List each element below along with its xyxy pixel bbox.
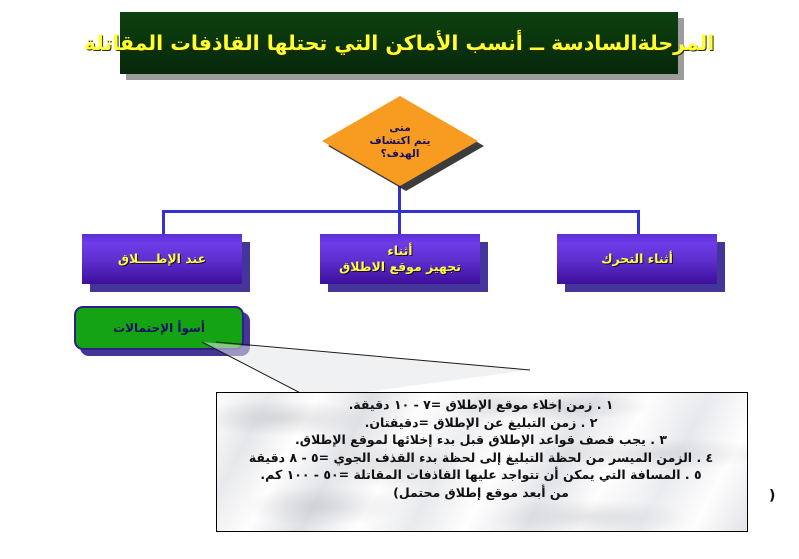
decision-diamond-label: متى يتم اكتشاف الهدف؟	[322, 96, 478, 186]
connector-drop-middle	[398, 210, 401, 234]
process-box-at-launch[interactable]: عند الإطــــلاق	[82, 234, 242, 284]
process-box-during-movement[interactable]: أثناء التحرك	[557, 234, 717, 284]
process-box-label: عند الإطــــلاق	[82, 234, 242, 284]
process-box-label: أثناء التحرك	[557, 234, 717, 284]
list-item: ١ . زمن إخلاء موقع الإطلاق =٧ - ١٠ دقيقة…	[221, 396, 741, 414]
process-box-line-1: عند الإطــــلاق	[118, 251, 206, 267]
list-item: ٥ . المسافة التي يمكن أن تتواجد عليها ال…	[221, 466, 741, 484]
connector-drop-left	[162, 210, 165, 234]
process-box-launch-site-prep[interactable]: أثناء تجهيز موقع الاطلاق	[320, 234, 480, 284]
process-box-line-1: أثناء التحرك	[601, 251, 673, 267]
connector-drop-right	[637, 210, 640, 234]
decision-line-1: متى	[389, 122, 410, 135]
page-title: المرحلةالسادسة ــ أنسب الأماكن التي تحتل…	[84, 31, 715, 55]
decision-diamond[interactable]: متى يتم اكتشاف الهدف؟	[322, 96, 478, 186]
list-item-continuation: من أبعد موقع إطلاق محتمل)	[221, 484, 741, 502]
connector-horizontal-bus	[162, 210, 640, 213]
notes-list: ١ . زمن إخلاء موقع الإطلاق =٧ - ١٠ دقيقة…	[221, 396, 741, 501]
list-item: ٢ . زمن التبليغ عن الإطلاق =دقيقتان.	[221, 414, 741, 432]
slide-canvas: المرحلةالسادسة ــ أنسب الأماكن التي تحتل…	[0, 0, 799, 559]
stray-paren-glyph: )	[769, 488, 775, 504]
decision-line-2: يتم اكتشاف	[370, 135, 431, 148]
notes-textbox: ١ . زمن إخلاء موقع الإطلاق =٧ - ١٠ دقيقة…	[216, 392, 748, 532]
process-box-line-1: أثناء	[387, 243, 412, 259]
title-banner: المرحلةالسادسة ــ أنسب الأماكن التي تحتل…	[120, 12, 678, 74]
process-box-label: أثناء تجهيز موقع الاطلاق	[320, 234, 480, 284]
connector-diamond-stem	[398, 186, 401, 212]
decision-line-3: الهدف؟	[381, 148, 420, 161]
process-box-line-2: تجهيز موقع الاطلاق	[339, 259, 461, 275]
list-item: ٤ . الزمن الميسر من لحظة التبليغ إلى لحظ…	[221, 449, 741, 467]
list-item: ٣ . يجب قصف قواعد الإطلاق قبل بدء إخلائه…	[221, 431, 741, 449]
